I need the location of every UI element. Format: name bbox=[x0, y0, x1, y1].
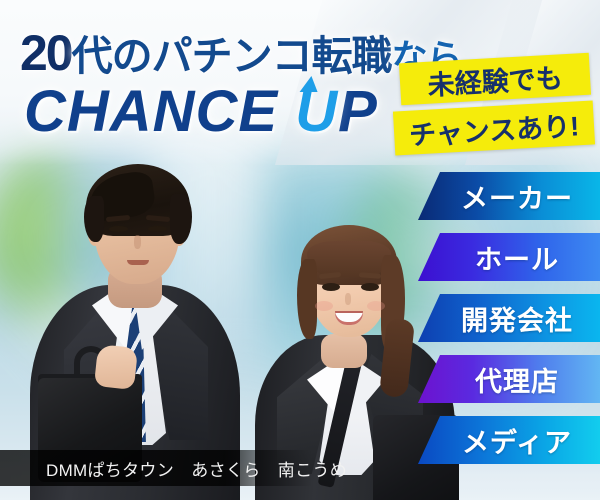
headline-middle: 代のパチンコ転職 bbox=[72, 33, 392, 79]
badge-no-experience-label: 未経験でも bbox=[427, 56, 564, 102]
category-label-maker: メーカー bbox=[445, 177, 573, 216]
logo-chance-text: CHANCE bbox=[24, 79, 278, 144]
category-list: メーカー ホール 開発会社 代理店 メディア bbox=[418, 172, 600, 464]
category-label-media: メディア bbox=[446, 421, 572, 460]
category-button-development-company[interactable]: 開発会社 bbox=[418, 294, 600, 342]
logo-u-letter: U bbox=[295, 78, 338, 145]
category-label-agency: 代理店 bbox=[459, 360, 559, 399]
category-label-hall: ホール bbox=[459, 238, 559, 277]
headline-number: 20 bbox=[20, 25, 72, 81]
recruitment-banner: 20代のパチンコ転職なら CHANCE U P 未経験でも チャンスあり! メー… bbox=[0, 0, 600, 500]
brand-logo: CHANCE U P bbox=[24, 78, 378, 145]
category-button-maker[interactable]: メーカー bbox=[418, 172, 600, 220]
category-button-agency[interactable]: 代理店 bbox=[418, 355, 600, 403]
category-button-hall[interactable]: ホール bbox=[418, 233, 600, 281]
badge-chance-available-label: チャンスあり! bbox=[408, 104, 580, 152]
up-arrow-icon bbox=[300, 76, 321, 92]
caption-bar: DMMぱちタウン あさくら 南こうめ bbox=[0, 450, 312, 486]
caption-text: DMMぱちタウン あさくら 南こうめ bbox=[0, 456, 347, 481]
category-label-development-company: 開発会社 bbox=[445, 299, 573, 338]
headline: 20代のパチンコ転職なら bbox=[20, 22, 462, 82]
logo-p-text: P bbox=[338, 79, 378, 144]
category-button-media[interactable]: メディア bbox=[418, 416, 600, 464]
photo-male-model bbox=[30, 150, 240, 500]
